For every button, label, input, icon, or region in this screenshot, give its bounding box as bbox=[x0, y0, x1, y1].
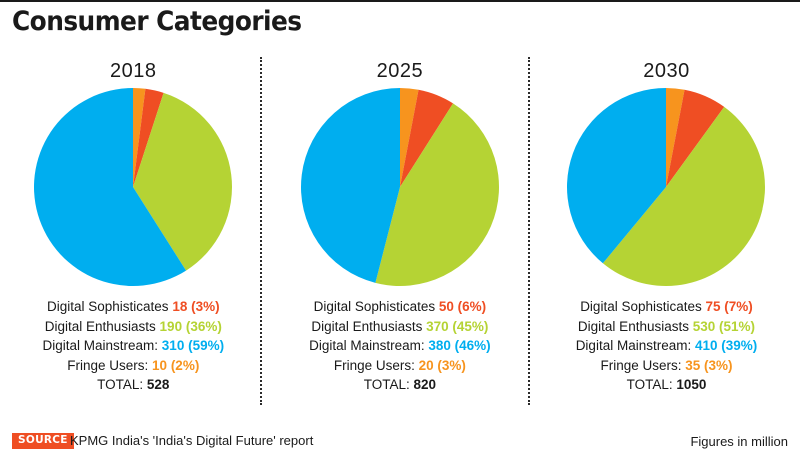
chart-year-label: 2018 bbox=[110, 57, 157, 85]
legend-2030: Digital Sophisticates 75 (7%)Digital Ent… bbox=[533, 297, 800, 395]
legend-row: Fringe Users: 10 (2%) bbox=[0, 356, 267, 376]
legend-value: 380 (46%) bbox=[428, 338, 490, 353]
legend-label: Digital Mainstream: bbox=[43, 338, 162, 353]
legend-total-value: 820 bbox=[414, 377, 437, 392]
legend-total-row: TOTAL: 1050 bbox=[533, 375, 800, 395]
legend-label: Digital Sophisticates bbox=[580, 299, 705, 314]
legend-label: Digital Sophisticates bbox=[314, 299, 439, 314]
legend-row: Digital Mainstream: 310 (59%) bbox=[0, 336, 267, 356]
legend-value: 20 (3%) bbox=[419, 358, 466, 373]
legend-total-value: 528 bbox=[147, 377, 170, 392]
legend-row: Fringe Users: 20 (3%) bbox=[267, 356, 534, 376]
legend-label: Fringe Users: bbox=[334, 358, 419, 373]
page-title: Consumer Categories bbox=[12, 6, 302, 37]
legend-row: Digital Mainstream: 380 (46%) bbox=[267, 336, 534, 356]
legend-row: Digital Sophisticates 75 (7%) bbox=[533, 297, 800, 317]
legend-value: 190 (36%) bbox=[160, 319, 222, 334]
legend-label: Digital Enthusiasts bbox=[578, 319, 693, 334]
legend-total-label: TOTAL: bbox=[364, 377, 414, 392]
legend-label: Digital Mainstream: bbox=[309, 338, 428, 353]
charts-container: 2018 Digital Sophisticates 18 (3%)Digita… bbox=[0, 55, 800, 410]
legend-value: 10 (2%) bbox=[152, 358, 199, 373]
legend-total-value: 1050 bbox=[676, 377, 706, 392]
legend-value: 530 (51%) bbox=[693, 319, 755, 334]
pie-chart-2025 bbox=[300, 87, 500, 287]
legend-value: 50 (6%) bbox=[439, 299, 486, 314]
legend-2025: Digital Sophisticates 50 (6%)Digital Ent… bbox=[267, 297, 534, 395]
chart-year-label: 2025 bbox=[377, 57, 424, 85]
legend-value: 75 (7%) bbox=[706, 299, 753, 314]
legend-label: Digital Mainstream: bbox=[576, 338, 695, 353]
legend-row: Digital Enthusiasts 530 (51%) bbox=[533, 317, 800, 337]
infographic-root: Consumer Categories 2018 Digital Sophist… bbox=[0, 0, 800, 461]
figures-note: Figures in million bbox=[690, 434, 788, 450]
chart-column-2030: 2030 Digital Sophisticates 75 (7%)Digita… bbox=[533, 55, 800, 410]
legend-value: 18 (3%) bbox=[172, 299, 219, 314]
legend-label: Fringe Users: bbox=[67, 358, 152, 373]
source-badge: SOURCE bbox=[12, 433, 74, 449]
legend-row: Digital Enthusiasts 370 (45%) bbox=[267, 317, 534, 337]
chart-column-2025: 2025 Digital Sophisticates 50 (6%)Digita… bbox=[267, 55, 534, 410]
legend-2018: Digital Sophisticates 18 (3%)Digital Ent… bbox=[0, 297, 267, 395]
top-rule-divider bbox=[0, 0, 800, 2]
legend-total-row: TOTAL: 528 bbox=[0, 375, 267, 395]
chart-column-2018: 2018 Digital Sophisticates 18 (3%)Digita… bbox=[0, 55, 267, 410]
legend-row: Fringe Users: 35 (3%) bbox=[533, 356, 800, 376]
legend-value: 410 (39%) bbox=[695, 338, 757, 353]
pie-chart-2018 bbox=[33, 87, 233, 287]
legend-row: Digital Sophisticates 50 (6%) bbox=[267, 297, 534, 317]
legend-label: Digital Enthusiasts bbox=[311, 319, 426, 334]
legend-label: Digital Enthusiasts bbox=[45, 319, 160, 334]
legend-value: 310 (59%) bbox=[162, 338, 224, 353]
legend-row: Digital Enthusiasts 190 (36%) bbox=[0, 317, 267, 337]
source-text: KPMG India's 'India's Digital Future' re… bbox=[70, 433, 313, 449]
legend-value: 35 (3%) bbox=[685, 358, 732, 373]
legend-row: Digital Sophisticates 18 (3%) bbox=[0, 297, 267, 317]
chart-year-label: 2030 bbox=[643, 57, 690, 85]
footer: SOURCE KPMG India's 'India's Digital Fut… bbox=[0, 428, 800, 461]
legend-total-label: TOTAL: bbox=[627, 377, 677, 392]
legend-total-row: TOTAL: 820 bbox=[267, 375, 534, 395]
legend-label: Fringe Users: bbox=[600, 358, 685, 373]
pie-chart-2030 bbox=[566, 87, 766, 287]
legend-total-label: TOTAL: bbox=[97, 377, 147, 392]
legend-label: Digital Sophisticates bbox=[47, 299, 172, 314]
legend-value: 370 (45%) bbox=[426, 319, 488, 334]
legend-row: Digital Mainstream: 410 (39%) bbox=[533, 336, 800, 356]
